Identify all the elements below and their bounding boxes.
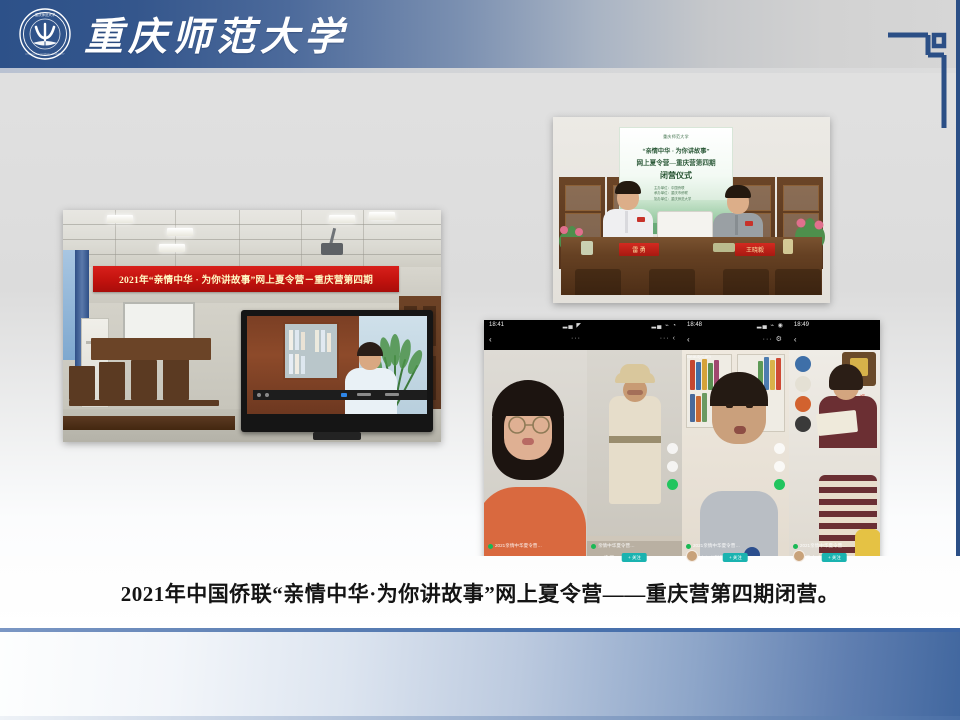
display-screen — [241, 310, 433, 432]
avatar-3[interactable] — [686, 550, 698, 562]
right-edge-rule — [956, 0, 960, 560]
follow-button-2[interactable]: + 关注 — [622, 553, 647, 562]
video-player-controls[interactable] — [253, 390, 427, 400]
front-desk — [63, 416, 235, 430]
header-underline — [0, 68, 960, 73]
backdrop-line-1: “亲情中华 · 为你讲故事” — [620, 146, 732, 155]
classroom-banner-photo: 2021年“亲情中华 · 为你讲故事”网上夏令营－重庆营第四期 — [63, 210, 441, 442]
footer-band — [0, 632, 960, 720]
more-icon-3[interactable]: ··· ⚙ — [763, 335, 783, 343]
nickname-2: 迪 丽 — [604, 555, 614, 561]
projector — [321, 243, 343, 255]
status-icons-1: ▂▄ ◤ — [563, 322, 582, 329]
video-call-screen — [247, 316, 427, 414]
watermark-text-4: 2021亲情中华夏令营… — [800, 543, 847, 549]
watermark-1: 2021亲情中华夏令营… — [488, 543, 542, 549]
video-grid-photo: 18:41 ▂▄ ◤ ‹ ··· — [484, 320, 880, 565]
backdrop-organizers: 主办单位：中国侨联 承办单位：重庆市侨联 协办单位：重庆师范大学 — [654, 186, 691, 202]
phone-status-bar-4: 18:49 ‹ — [789, 320, 880, 350]
status-icons-2: ▂▄ ⌁ ◔ — [652, 322, 677, 329]
video-cell-2[interactable]: ▂▄ ⌁ ◔ ··· ‹ 亲情中华夏令营… — [587, 320, 682, 565]
watermark-dot-icon-2 — [591, 544, 596, 549]
avatar-4[interactable] — [793, 550, 805, 562]
watermark-text-1: 2021亲情中华夏令营… — [495, 543, 542, 549]
footer-edge — [0, 716, 960, 720]
university-name-title: 重庆师范大学 — [84, 6, 348, 62]
bookshelf — [283, 322, 339, 380]
closing-ceremony-photo: 重庆师范大学 “亲情中华 · 为你讲故事” 网上夏令营—重庆营第四期 闭营仪式 … — [553, 117, 830, 303]
ceremony-table: 雷 勇 王晓毅 — [561, 237, 822, 295]
nameplate-left: 雷 勇 — [619, 243, 659, 256]
slide-canvas: 重庆师范大学 CHONGQING NORMAL UNIVERSITY 重庆师范大… — [0, 0, 960, 720]
wooden-chairs — [69, 338, 229, 422]
phone-status-bar-3: 18:48 ▂▄ ⌁ ◉ ‹ ··· ⚙ — [682, 320, 789, 350]
side-action-buttons-3[interactable] — [774, 443, 785, 497]
back-icon-4[interactable]: ‹ — [794, 335, 797, 344]
video-cell-4[interactable]: 18:49 ‹ 福 — [789, 320, 880, 565]
watermark-dot-icon-3 — [686, 544, 691, 549]
status-time-4: 18:49 — [794, 322, 809, 328]
more-icon-1[interactable]: ··· — [571, 335, 581, 342]
watermark-4: 2021亲情中华夏令营… — [793, 543, 847, 549]
follow-button-4[interactable]: + 关注 — [822, 553, 847, 562]
display-stand — [313, 432, 361, 440]
phone-status-bar-1: 18:41 ▂▄ ◤ ‹ ··· — [484, 320, 587, 350]
watermark-dot-icon-4 — [793, 544, 798, 549]
side-action-buttons-2[interactable] — [667, 443, 678, 497]
beauty-watermark-3: BeautyCam — [687, 354, 711, 359]
back-icon-1[interactable]: ‹ — [489, 335, 492, 344]
status-time-3: 18:48 — [687, 322, 702, 328]
back-icon-3[interactable]: ‹ — [687, 335, 690, 344]
backdrop-logo-text: 重庆师范大学 — [663, 134, 689, 140]
university-emblem-icon: 重庆师范大学 CHONGQING NORMAL UNIVERSITY — [18, 7, 72, 61]
video-cell-3[interactable]: 18:48 ▂▄ ⌁ ◉ ‹ ··· ⚙ — [682, 320, 789, 565]
chinese-fret-corner-icon-top-right — [888, 8, 948, 133]
svg-text:重庆师范大学: 重庆师范大学 — [35, 12, 56, 17]
watermark-dot-icon-1 — [488, 544, 493, 549]
svg-text:CHONGQING NORMAL UNIVERSITY: CHONGQING NORMAL UNIVERSITY — [25, 53, 65, 56]
video-cell-1[interactable]: 18:41 ▂▄ ◤ ‹ ··· — [484, 320, 587, 565]
ceiling — [63, 210, 441, 267]
watermark-text-2: 亲情中华夏令营… — [598, 543, 635, 549]
watermark-3: 2021亲情中华夏令营… — [686, 543, 740, 549]
follow-button-3[interactable]: + 关注 — [723, 553, 748, 562]
more-icon-2[interactable]: ··· ‹ — [660, 335, 676, 342]
watermark-2: 亲情中华夏令营… — [591, 543, 635, 549]
backdrop-line-3: 闭营仪式 — [620, 170, 732, 181]
status-time-1: 18:41 — [489, 322, 504, 328]
slide-caption: 2021年中国侨联“亲情中华·为你讲故事”网上夏令营——重庆营第四期闭营。 — [0, 578, 960, 608]
watermark-text-3: 2021亲情中华夏令营… — [693, 543, 740, 549]
backdrop-line-2: 网上夏令营—重庆营第四期 — [620, 157, 732, 167]
phone-status-bar-2: ▂▄ ⌁ ◔ ··· ‹ — [587, 320, 682, 350]
nameplate-right: 王晓毅 — [735, 243, 775, 256]
status-icons-3: ▂▄ ⌁ ◉ — [757, 322, 784, 329]
nickname-4: 天 心 心 — [806, 555, 822, 561]
event-banner: 2021年“亲情中华 · 为你讲故事”网上夏令营－重庆营第四期 — [93, 266, 399, 292]
